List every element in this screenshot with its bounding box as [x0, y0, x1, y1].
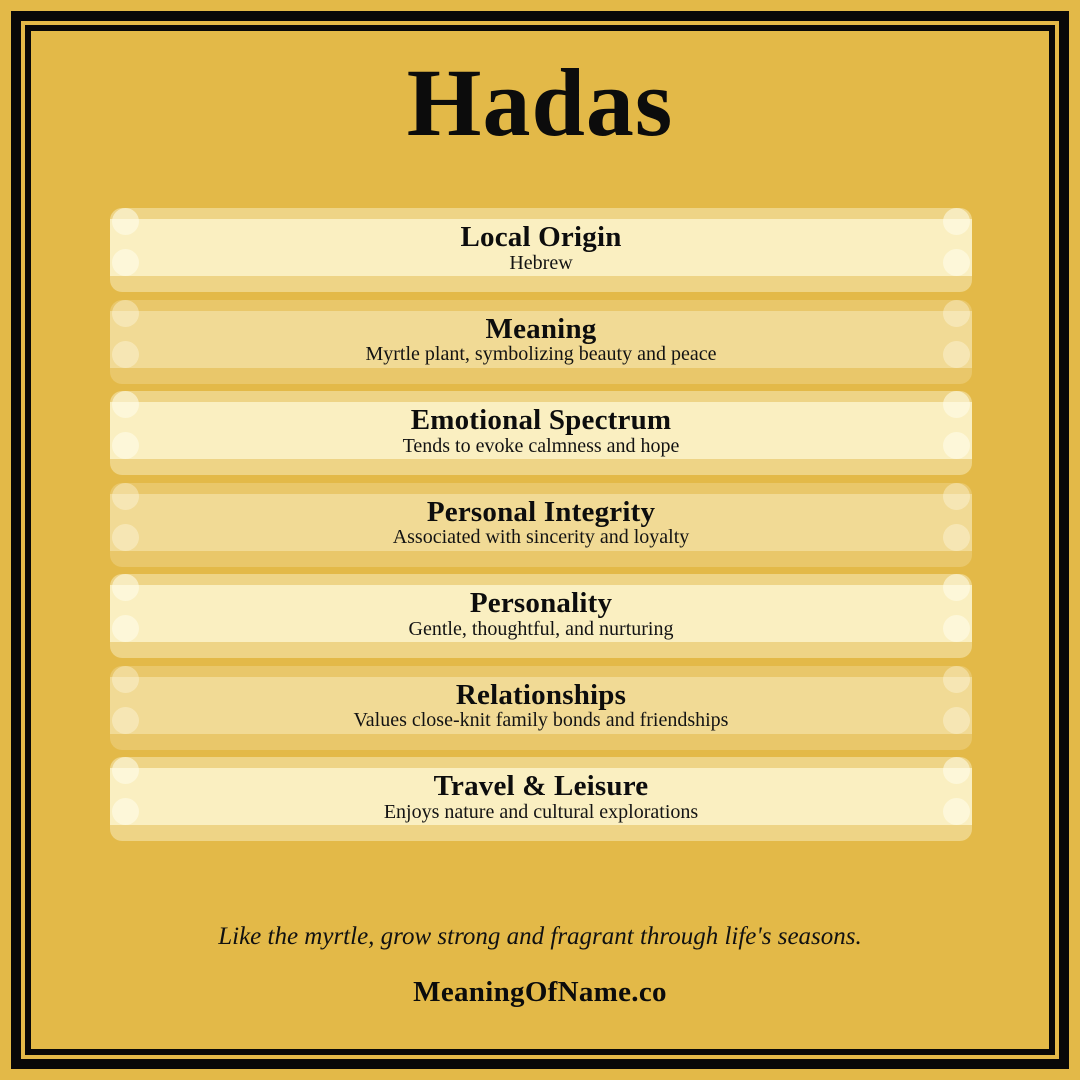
card-text: Local OriginHebrew — [110, 222, 972, 274]
page-title: Hadas — [31, 49, 1049, 157]
card-value: Gentle, thoughtful, and nurturing — [110, 618, 972, 640]
card-label: Local Origin — [110, 222, 972, 252]
card-value: Values close-knit family bonds and frien… — [110, 709, 972, 731]
card-label: Travel & Leisure — [110, 771, 972, 801]
attribute-card: Personal IntegrityAssociated with sincer… — [110, 483, 972, 567]
card-value: Tends to evoke calmness and hope — [110, 435, 972, 457]
card-text: Travel & LeisureEnjoys nature and cultur… — [110, 771, 972, 823]
footer-brand: MeaningOfName.co — [31, 976, 1049, 1009]
attribute-card: Local OriginHebrew — [110, 208, 972, 292]
card-label: Relationships — [110, 680, 972, 710]
card-text: Emotional SpectrumTends to evoke calmnes… — [110, 405, 972, 457]
attribute-card: MeaningMyrtle plant, symbolizing beauty … — [110, 300, 972, 384]
card-text: RelationshipsValues close-knit family bo… — [110, 680, 972, 732]
name-meaning-poster: Hadas Local OriginHebrewMeaningMyrtle pl… — [0, 0, 1080, 1080]
card-value: Associated with sincerity and loyalty — [110, 526, 972, 548]
card-label: Meaning — [110, 314, 972, 344]
card-text: Personal IntegrityAssociated with sincer… — [110, 497, 972, 549]
card-label: Personal Integrity — [110, 497, 972, 527]
poster-footer: Like the myrtle, grow strong and fragran… — [31, 921, 1049, 1009]
card-value: Enjoys nature and cultural explorations — [110, 801, 972, 823]
card-label: Emotional Spectrum — [110, 405, 972, 435]
attribute-card: RelationshipsValues close-knit family bo… — [110, 666, 972, 750]
card-text: PersonalityGentle, thoughtful, and nurtu… — [110, 588, 972, 640]
poster-content: Hadas Local OriginHebrewMeaningMyrtle pl… — [31, 31, 1049, 1049]
card-text: MeaningMyrtle plant, symbolizing beauty … — [110, 314, 972, 366]
card-value: Myrtle plant, symbolizing beauty and pea… — [110, 343, 972, 365]
attribute-card: PersonalityGentle, thoughtful, and nurtu… — [110, 574, 972, 658]
attribute-card-list: Local OriginHebrewMeaningMyrtle plant, s… — [110, 208, 972, 849]
attribute-card: Travel & LeisureEnjoys nature and cultur… — [110, 757, 972, 841]
card-value: Hebrew — [110, 252, 972, 274]
attribute-card: Emotional SpectrumTends to evoke calmnes… — [110, 391, 972, 475]
footer-tagline: Like the myrtle, grow strong and fragran… — [31, 921, 1049, 954]
card-label: Personality — [110, 588, 972, 618]
